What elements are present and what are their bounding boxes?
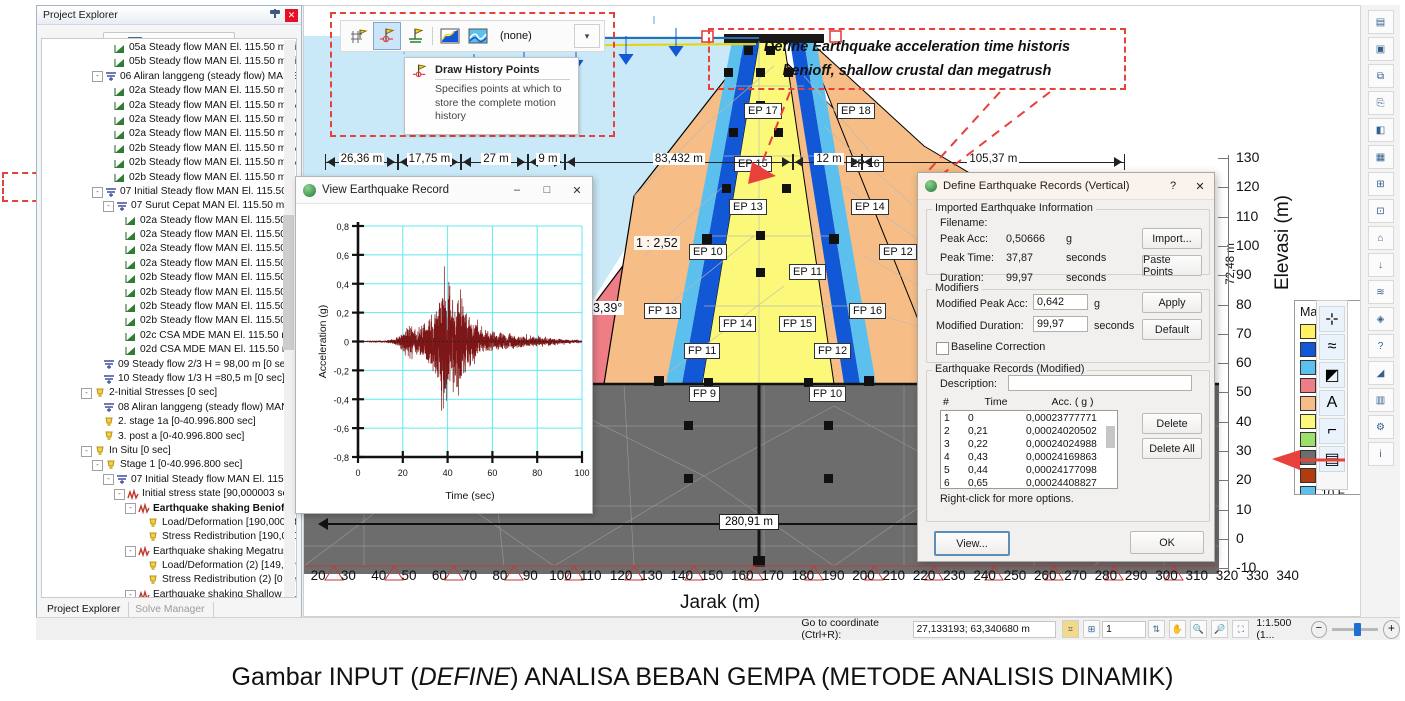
elevation-tick-label: 130 <box>1236 149 1259 165</box>
tree-node-label: 02a Steady flow MAN El. 115.50 m, MDE u/… <box>140 214 296 228</box>
chart-y-tick-label: -0,4 <box>333 395 349 405</box>
dimension-arrow-left <box>463 157 471 167</box>
dimension-arrow-right <box>387 157 395 167</box>
axis-tool-icon[interactable]: ⌐ <box>1319 418 1345 444</box>
tree-node-label: 07 Initial Steady flow MAN El. 115.50 m,… <box>120 185 296 199</box>
tree-node-label: 10 Steady flow 1/3 H =80,5 m [0 sec] <box>118 372 285 386</box>
earthquake-note-line1: Define Earthquake acceleration time hist… <box>764 35 1070 59</box>
snap-icon[interactable]: ⌗ <box>1062 620 1079 638</box>
tree-node-label: Earthquake shaking Megatrush [90,0000 <box>153 545 296 559</box>
modified-duration-input[interactable]: 99,97 <box>1033 316 1088 332</box>
table-cell: 0 <box>968 412 1026 425</box>
tree-node[interactable]: 02a Steady flow MAN El. 115.50 m, MDE u/… <box>42 84 296 98</box>
flow-vectors-icon[interactable] <box>436 22 464 50</box>
distance-tick-label: 120 <box>606 568 636 590</box>
distance-tick-label: 180 <box>788 568 818 590</box>
tree-expander-icon[interactable]: - <box>81 446 92 457</box>
tree-node[interactable]: 02c CSA MDE MAN El. 115.50 m, u/s 2 [0 s… <box>42 329 296 343</box>
chart-y-tick-label: 0,2 <box>336 309 349 319</box>
table-row[interactable]: 100,00023777771 <box>941 412 1107 425</box>
distance-tick-label: 60 <box>424 568 454 590</box>
legend-swatch <box>1300 414 1316 429</box>
peak-acc-unit: g <box>1066 233 1072 245</box>
elevation-tick <box>1218 451 1228 452</box>
tree-node-label: 02a Steady flow MAN El. 115.50 m, MDE u/… <box>129 99 296 113</box>
import-button[interactable]: Import... <box>1142 228 1202 249</box>
records-scrollbar[interactable] <box>1107 412 1116 489</box>
draw-history-points-icon <box>411 64 429 80</box>
distance-tick-label: 150 <box>697 568 727 590</box>
description-input[interactable] <box>1008 375 1192 391</box>
apply-button[interactable]: Apply <box>1142 292 1202 313</box>
description-label: Description: <box>940 378 997 390</box>
view-button[interactable]: View... <box>934 531 1010 556</box>
tree-node[interactable]: 02a Steady flow MAN El. 115.50 m, MDE u/… <box>42 127 296 141</box>
tree-node[interactable]: 02b Steady flow MAN El. 115.50 m, MDE d/… <box>42 271 296 285</box>
dimension-arrow-left <box>864 157 872 167</box>
pan-hand-icon[interactable]: ✋ <box>1169 620 1186 638</box>
zoom-out-icon[interactable]: 🔎 <box>1211 620 1228 638</box>
flag-icon <box>114 43 126 54</box>
zoom-in-icon[interactable]: 🔍 <box>1190 620 1207 638</box>
distance-tick-label: 300 <box>1151 568 1181 590</box>
tool-mesh-icon[interactable]: ▦ <box>1368 145 1394 169</box>
dimension-tick <box>565 154 566 170</box>
distance-tick-label: 30 <box>333 568 363 590</box>
table-cell: 6 <box>941 477 968 489</box>
contour-map-icon[interactable] <box>464 22 492 50</box>
dimension-tick <box>862 154 863 170</box>
scale-value: 1:1.500 (1... <box>1256 617 1306 641</box>
tree-node[interactable]: 02a Steady flow MAN El. 115.50 m, MDE u/… <box>42 214 296 228</box>
tool-boundary-icon[interactable]: ⊡ <box>1368 199 1394 223</box>
tree-expander-icon[interactable]: - <box>103 474 114 485</box>
tree-node[interactable]: 02b Steady flow MAN El. 115.50 m, MDE d/… <box>42 156 296 170</box>
history-point-label: FP 13 <box>644 303 681 319</box>
peak-time-value: 37,87 <box>1006 252 1033 264</box>
chart-y-axis-title: Acceleration (g) <box>317 305 329 379</box>
imported-info-label: Imported Earthquake Information <box>932 202 1096 214</box>
tree-expander-icon[interactable]: - <box>92 71 103 82</box>
dialog-titlebar[interactable]: Define Earthquake Records (Vertical) ? ✕ <box>918 173 1214 200</box>
table-cell: 0,65 <box>968 477 1026 489</box>
tree-expander-icon[interactable]: - <box>103 201 114 212</box>
elevation-tick-label: 90 <box>1236 266 1252 282</box>
page-number-input[interactable]: 1 <box>1102 621 1146 638</box>
chart-x-tick-label: 0 <box>355 468 360 478</box>
tree-node[interactable]: Stress Redistribution [190,00023 sec] <box>42 530 296 544</box>
dimension-arrow-left <box>795 157 803 167</box>
tree-node[interactable]: -Stage 1 [0-40.996.800 sec] <box>42 458 296 472</box>
elevation-tick <box>1218 275 1228 276</box>
flag-icon <box>125 287 137 298</box>
tree-node-label: 08 Aliran langgeng (steady flow) MAN El.… <box>118 401 296 415</box>
draw-grid-points-icon[interactable] <box>345 22 373 50</box>
history-toolbar[interactable]: (none) ▾ <box>340 20 605 52</box>
tree-node[interactable]: 02d CSA MDE MAN El. 115.50 m, d/s 2 [0 s… <box>42 343 296 357</box>
tree-node-label: Stage 1 [0-40.996.800 sec] <box>120 458 242 472</box>
earthquake-acceleration-chart: -0,8-0,6-0,4-0,200,20,40,60,802040608010… <box>296 204 592 513</box>
elevation-tick <box>1218 305 1228 306</box>
bulb-icon <box>147 532 159 543</box>
tree-node-label: 02d CSA MDE MAN El. 115.50 m, d/s 2 [0 s… <box>140 343 296 357</box>
table-cell: 0,21 <box>968 425 1026 438</box>
history-point-label: EP 13 <box>729 199 767 215</box>
tree-node[interactable]: 02a Steady flow MAN El. 115.50 m, MDE u/… <box>42 113 296 127</box>
chart-x-tick-label: 80 <box>532 468 542 478</box>
chevron-down-icon[interactable]: ▾ <box>574 24 600 48</box>
dimension-tick <box>793 154 794 170</box>
earthquake-records-table[interactable]: 100,0002377777120,210,0002402050230,220,… <box>940 410 1118 489</box>
chart-y-tick-label: 0,4 <box>336 280 349 290</box>
peak-acc-label: Peak Acc: <box>940 233 988 245</box>
legend-swatch <box>1300 432 1316 447</box>
tool-paste-icon[interactable]: ⎘ <box>1368 91 1394 115</box>
goto-coordinate-label: Go to coordinate (Ctrl+R): <box>801 617 908 641</box>
tree-node[interactable]: 02a Steady flow MAN El. 115.50 m, MDE u/… <box>42 228 296 242</box>
flag-icon <box>114 115 126 126</box>
tree-node[interactable]: -Earthquake shaking Megatrush [90,0000 <box>42 545 296 559</box>
tree-node[interactable]: -Initial stress state [90,000003 sec] <box>42 487 296 501</box>
chart-y-tick-label: 0,6 <box>336 251 349 261</box>
tree-node[interactable]: -07 Initial Steady flow MAN El. 115.50 m… <box>42 473 296 487</box>
table-row[interactable]: 60,650,00024408827 <box>941 477 1107 489</box>
elevation-axis: 1301201101009080706050403020100-10 <box>1218 150 1278 580</box>
distance-tick-label: 80 <box>485 568 515 590</box>
modified-peak-acc-input[interactable]: 0,642 <box>1033 294 1088 310</box>
distance-tick-label: 90 <box>515 568 545 590</box>
zoom-fit-icon[interactable]: ⛶ <box>1232 620 1249 638</box>
tool-stage-icon[interactable]: ◈ <box>1368 307 1394 331</box>
draw-history-line-icon[interactable] <box>401 22 429 50</box>
eq-window-title: View Earthquake Record <box>322 184 449 196</box>
dimension-arrow-right <box>1114 157 1122 167</box>
water-contour-tool-icon[interactable]: ◩ <box>1319 362 1345 388</box>
caption-part1: Gambar INPUT ( <box>232 663 419 691</box>
tool-export-icon[interactable]: ▣ <box>1368 37 1394 61</box>
help-icon[interactable]: ? <box>1160 180 1186 193</box>
tree-node[interactable]: 05b Steady flow MAN El. 115.50 m, tidak … <box>42 55 296 69</box>
chart-y-tick-label: -0,2 <box>333 366 349 376</box>
modified-peak-acc-unit: g <box>1094 298 1100 310</box>
tooltip-popup: Draw History Points Specifies points at … <box>404 57 579 135</box>
history-point-label: EP 11 <box>789 264 826 280</box>
distance-tick-label: 240 <box>970 568 1000 590</box>
minus-icon[interactable]: − <box>1311 621 1326 638</box>
flag-icon <box>125 230 137 241</box>
distance-tick-label: 110 <box>576 568 606 590</box>
tree-node[interactable]: 02b Steady flow MAN El. 115.50 m, MDE d/… <box>42 286 296 300</box>
default-button[interactable]: Default <box>1142 319 1202 340</box>
col-time: Time <box>967 396 1025 408</box>
history-point-label: FP 14 <box>719 316 756 332</box>
tree-node[interactable]: 2. stage 1a [0-40.996.800 sec] <box>42 415 296 429</box>
tool-settings-icon[interactable]: ⚙ <box>1368 415 1394 439</box>
draw-history-points-icon[interactable] <box>373 22 401 50</box>
tree-expander-icon[interactable]: - <box>125 503 136 514</box>
paste-points-button[interactable]: Paste Points <box>1142 255 1202 276</box>
chart-x-axis-title: Time (sec) <box>445 490 494 502</box>
distance-tick-label: 40 <box>364 568 394 590</box>
flag-icon <box>125 316 137 327</box>
grid-icon[interactable]: ⊞ <box>1083 620 1100 638</box>
tree-node[interactable]: -Earthquake shaking Shallow crustal [90, <box>42 588 296 598</box>
dimension-arrow-left <box>327 157 335 167</box>
tool-import-icon[interactable]: ▤ <box>1368 10 1394 34</box>
tree-expander-icon[interactable]: - <box>125 590 136 598</box>
tool-graph-icon[interactable]: ◢ <box>1368 361 1394 385</box>
define-earthquake-records-dialog[interactable]: Define Earthquake Records (Vertical) ? ✕… <box>917 172 1215 562</box>
tree-node[interactable]: 02a Steady flow MAN El. 115.50 m, MDE u/… <box>42 242 296 256</box>
tree-node-label: 05a Steady flow MAN El. 115.50 m, tidak … <box>129 41 296 55</box>
seismic-wave-tool-icon[interactable]: ≈ <box>1319 334 1345 360</box>
distance-tick-label: 290 <box>1121 568 1151 590</box>
elevation-tick-label: 70 <box>1236 325 1252 341</box>
coordinate-input[interactable]: 27,133193; 63,340680 m <box>913 621 1056 638</box>
view-earthquake-record-window[interactable]: View Earthquake Record – □ ✕ -0,8-0,6-0,… <box>295 176 593 514</box>
tree-node-label: 02b Steady flow MAN El. 115.50 m, MDE d/… <box>140 300 296 314</box>
tree-node[interactable]: 02b Steady flow MAN El. 115.50 m, MDE d/… <box>42 300 296 314</box>
tree-node-label: Stress Redistribution (2) [0 sec] <box>162 573 296 587</box>
eq-window-titlebar[interactable]: View Earthquake Record – □ ✕ <box>296 177 592 204</box>
col-index: # <box>940 396 967 408</box>
history-point-label: FP 10 <box>809 386 846 402</box>
elevation-tick-label: 110 <box>1236 208 1258 224</box>
elevation-tick <box>1218 187 1228 188</box>
flag-icon <box>114 100 126 111</box>
spinner-icon[interactable]: ⇅ <box>1148 620 1165 638</box>
baseline-correction-checkbox[interactable] <box>936 342 949 355</box>
flag-icon <box>114 86 126 97</box>
quake-icon <box>138 590 150 598</box>
tooltip-title: Draw History Points <box>435 64 570 80</box>
delete-all-button[interactable]: Delete All <box>1142 438 1202 459</box>
distance-tick-label: 260 <box>1030 568 1060 590</box>
tool-info-icon[interactable]: i <box>1368 442 1394 466</box>
tree-node[interactable]: -06 Aliran langgeng (steady flow) MAN El… <box>42 70 296 84</box>
tool-grid-icon[interactable]: ⊞ <box>1368 172 1394 196</box>
tree-expander-icon[interactable]: - <box>92 460 103 471</box>
history-points-tool-icon[interactable]: ⊹ <box>1319 306 1345 332</box>
close-icon[interactable]: ✕ <box>562 178 592 203</box>
minimize-icon[interactable]: – <box>502 178 532 203</box>
close-icon[interactable]: ✕ <box>285 9 298 22</box>
chart-x-tick-label: 60 <box>487 468 497 478</box>
elevation-tick-label: 40 <box>1236 413 1252 429</box>
annotation-text-tool-icon[interactable]: A <box>1319 390 1345 416</box>
tree-node[interactable]: -2-Initial Stresses [0 sec] <box>42 386 296 400</box>
history-point-label: FP 11 <box>684 343 720 359</box>
elevation-tick-label: 120 <box>1236 178 1259 194</box>
quake-icon <box>127 489 139 500</box>
table-row[interactable]: 50,440,00024177098 <box>941 464 1107 477</box>
wave-icon <box>116 201 128 212</box>
plus-icon[interactable]: + <box>1383 620 1400 639</box>
bulb-icon <box>147 561 159 572</box>
bulb-icon <box>94 388 106 399</box>
quake-icon <box>138 503 150 514</box>
tree-scrollbar[interactable] <box>284 40 295 598</box>
floating-tool-palette[interactable]: ⊹ ≈ ◩ A ⌐ ▤ <box>1316 300 1348 490</box>
history-point-label: EP 12 <box>879 244 917 260</box>
bulb-icon <box>147 575 159 586</box>
tree-node[interactable]: 02a Steady flow MAN El. 115.50 m, MDE u/… <box>42 99 296 113</box>
flag-icon <box>114 158 126 169</box>
pin-icon[interactable] <box>268 8 282 22</box>
distance-tick-label: 230 <box>939 568 969 590</box>
distance-tick-label: 130 <box>636 568 666 590</box>
dimension-tick <box>1124 154 1125 170</box>
tree-node[interactable]: Load/Deformation (2) [149,99996-15 <box>42 559 296 573</box>
delete-button[interactable]: Delete <box>1142 413 1202 434</box>
table-row[interactable]: 40,430,00024169863 <box>941 451 1107 464</box>
tree-node-label: Load/Deformation [190,00023-191,0 <box>162 516 296 530</box>
tree-node[interactable]: 3. post a [0-40.996.800 sec] <box>42 430 296 444</box>
elevation-tick-label: 100 <box>1236 237 1259 253</box>
distance-tick-label: 20 <box>303 568 333 590</box>
tree-node[interactable]: 10 Steady flow 1/3 H =80,5 m [0 sec] <box>42 372 296 386</box>
dimension-tick <box>461 154 462 170</box>
table-cell: 0,43 <box>968 451 1026 464</box>
wave-icon <box>105 71 117 82</box>
zoom-slider[interactable] <box>1332 628 1378 631</box>
toolbar-separator <box>432 27 433 45</box>
right-vertical-toolbar[interactable]: ▤ ▣ ⧉ ⎘ ◧ ▦ ⊞ ⊡ ⌂ ↓ ≋ ◈ ? ◢ ▥ ⚙ i <box>1360 5 1400 617</box>
col-acc: Acc. ( g ) <box>1025 396 1120 408</box>
tool-material-icon[interactable]: ◧ <box>1368 118 1394 142</box>
tree-expander-icon[interactable]: - <box>81 388 92 399</box>
chart-tool-icon[interactable]: ▤ <box>1319 446 1345 472</box>
tree-expander-icon[interactable]: - <box>92 187 103 198</box>
modified-peak-acc-label: Modified Peak Acc: <box>936 298 1028 310</box>
tree-node-label: Earthquake shaking Shallow crustal [90, <box>153 588 296 598</box>
tool-query-icon[interactable]: ? <box>1368 334 1394 358</box>
tree-node[interactable]: 05a Steady flow MAN El. 115.50 m, tidak … <box>42 41 296 55</box>
records-table-header: # Time Acc. ( g ) <box>940 396 1120 408</box>
bulb-icon <box>103 417 115 428</box>
project-explorer-panel[interactable]: Project Explorer ✕ Define Project 05a St… <box>36 5 302 640</box>
caption-italic: DEFINE <box>419 663 511 691</box>
tree-node[interactable]: 09 Steady flow 2/3 H = 98,00 m [0 sec] <box>42 358 296 372</box>
chart-y-tick-label: 0 <box>344 338 349 348</box>
status-bar[interactable]: Go to coordinate (Ctrl+R): 27,133193; 63… <box>36 617 1400 640</box>
zoom-slider-thumb[interactable] <box>1354 623 1361 636</box>
tool-report-icon[interactable]: ▥ <box>1368 388 1394 412</box>
tree-node-label: In Situ [0 sec] <box>109 444 171 458</box>
modified-duration-unit: seconds <box>1094 320 1134 332</box>
distance-tick-label: 250 <box>1000 568 1030 590</box>
bulb-icon <box>103 431 115 442</box>
dimension-label: 17,75 m <box>407 153 453 165</box>
tooltip-body: Specifies points at which to store the c… <box>435 83 570 124</box>
tree-node-label: 07 Surut Cepat MAN El. 115.50 m, B17 [84… <box>131 199 296 213</box>
flag-icon <box>125 215 137 226</box>
tree-node[interactable]: Stress Redistribution (2) [0 sec] <box>42 573 296 587</box>
dimension-label: 9 m <box>536 153 559 165</box>
dimension-label: 27 m <box>481 153 511 165</box>
flag-icon <box>114 57 126 68</box>
tree-node-label: Stress Redistribution [190,00023 sec] <box>162 530 296 544</box>
elevation-tick <box>1218 363 1228 364</box>
table-cell: 0,22 <box>968 438 1026 451</box>
elevation-tick-label: 50 <box>1236 383 1252 399</box>
elevation-tick-label: 10 <box>1236 501 1252 517</box>
records-label: Earthquake Records (Modified) <box>932 363 1087 375</box>
figure-caption: Gambar INPUT (DEFINE) ANALISA BEBAN GEMP… <box>0 663 1405 692</box>
app-globe-icon <box>303 184 316 197</box>
records-scrollbar-thumb[interactable] <box>1106 426 1115 448</box>
ok-button[interactable]: OK <box>1130 531 1204 554</box>
table-cell: 0,00023777771 <box>1026 412 1107 425</box>
project-tree[interactable]: 05a Steady flow MAN El. 115.50 m, tidak … <box>42 39 296 598</box>
tree-node[interactable]: 08 Aliran langgeng (steady flow) MAN El.… <box>42 401 296 415</box>
tree-node[interactable]: 02b Steady flow MAN El. 115.50 m, MDE d/… <box>42 171 296 185</box>
flag-icon <box>114 172 126 183</box>
tool-copy-icon[interactable]: ⧉ <box>1368 64 1394 88</box>
tool-water-icon[interactable]: ≋ <box>1368 280 1394 304</box>
tree-node[interactable]: 02b Steady flow MAN El. 115.50 m, MDE d/… <box>42 142 296 156</box>
legend-swatch <box>1300 468 1316 483</box>
peak-time-unit: seconds <box>1066 252 1106 264</box>
distance-tick-label: 270 <box>1060 568 1090 590</box>
chart-y-tick-label: 0,8 <box>336 222 349 232</box>
chart-x-tick-label: 40 <box>443 468 453 478</box>
distance-axis-title: Jarak (m) <box>680 592 760 614</box>
distance-tick-label: 190 <box>818 568 848 590</box>
slope-ratio-label: 1 : 2,52 <box>634 236 680 250</box>
history-point-label: EP 17 <box>744 103 782 119</box>
tree-node[interactable]: -07 Initial Steady flow MAN El. 115.50 m… <box>42 185 296 199</box>
chart-y-tick-label: -0,6 <box>333 424 349 434</box>
distance-tick-label: 320 <box>1212 568 1242 590</box>
tree-node[interactable]: 02b Steady flow MAN El. 115.50 m, MDE d/… <box>42 314 296 328</box>
wave-icon <box>105 187 117 198</box>
table-cell: 0,00024177098 <box>1026 464 1107 477</box>
tree-node[interactable]: 02a Steady flow MAN El. 115.50 m, MDE u/… <box>42 257 296 271</box>
tree-scrollbar-thumb[interactable] <box>283 215 294 350</box>
maximize-icon[interactable]: □ <box>532 178 562 203</box>
table-row[interactable]: 30,220,00024024988 <box>941 438 1107 451</box>
dimension-tick <box>398 154 399 170</box>
tree-node[interactable]: -Earthquake shaking Benioff [90,00 <box>42 502 296 516</box>
legend-swatch <box>1300 324 1316 339</box>
wave-icon <box>103 374 115 385</box>
tree-expander-icon[interactable]: - <box>125 546 136 557</box>
distance-tick-label: 220 <box>909 568 939 590</box>
table-cell: 3 <box>941 438 968 451</box>
tool-load-icon[interactable]: ↓ <box>1368 253 1394 277</box>
tree-node[interactable]: -In Situ [0 sec] <box>42 444 296 458</box>
elevation-tick <box>1218 158 1228 159</box>
modifiers-label: Modifiers <box>932 282 982 294</box>
tree-node[interactable]: -07 Surut Cepat MAN El. 115.50 m, B17 [8… <box>42 199 296 213</box>
tree-node-label: 02b Steady flow MAN El. 115.50 m, MDE d/… <box>140 271 296 285</box>
table-cell: 4 <box>941 451 968 464</box>
tree-expander-icon[interactable]: - <box>114 489 125 500</box>
project-tree-container[interactable]: 05a Steady flow MAN El. 115.50 m, tidak … <box>41 38 297 598</box>
tree-node[interactable]: Load/Deformation [190,00023-191,0 <box>42 516 296 530</box>
project-explorer-titlebar: Project Explorer ✕ <box>37 6 301 25</box>
close-icon[interactable]: ✕ <box>1186 180 1214 193</box>
distance-tick-label: 200 <box>848 568 878 590</box>
elevation-tick <box>1218 217 1228 218</box>
flag-icon <box>125 345 137 356</box>
tree-node-label: 02b Steady flow MAN El. 115.50 m, MDE d/… <box>140 314 296 328</box>
caption-part2: ) ANALISA BEBAN GEMPA (METODE ANALISIS D… <box>510 663 1173 691</box>
distance-tick-label: 210 <box>879 568 909 590</box>
table-row[interactable]: 20,210,00024020502 <box>941 425 1107 438</box>
tool-support-icon[interactable]: ⌂ <box>1368 226 1394 250</box>
